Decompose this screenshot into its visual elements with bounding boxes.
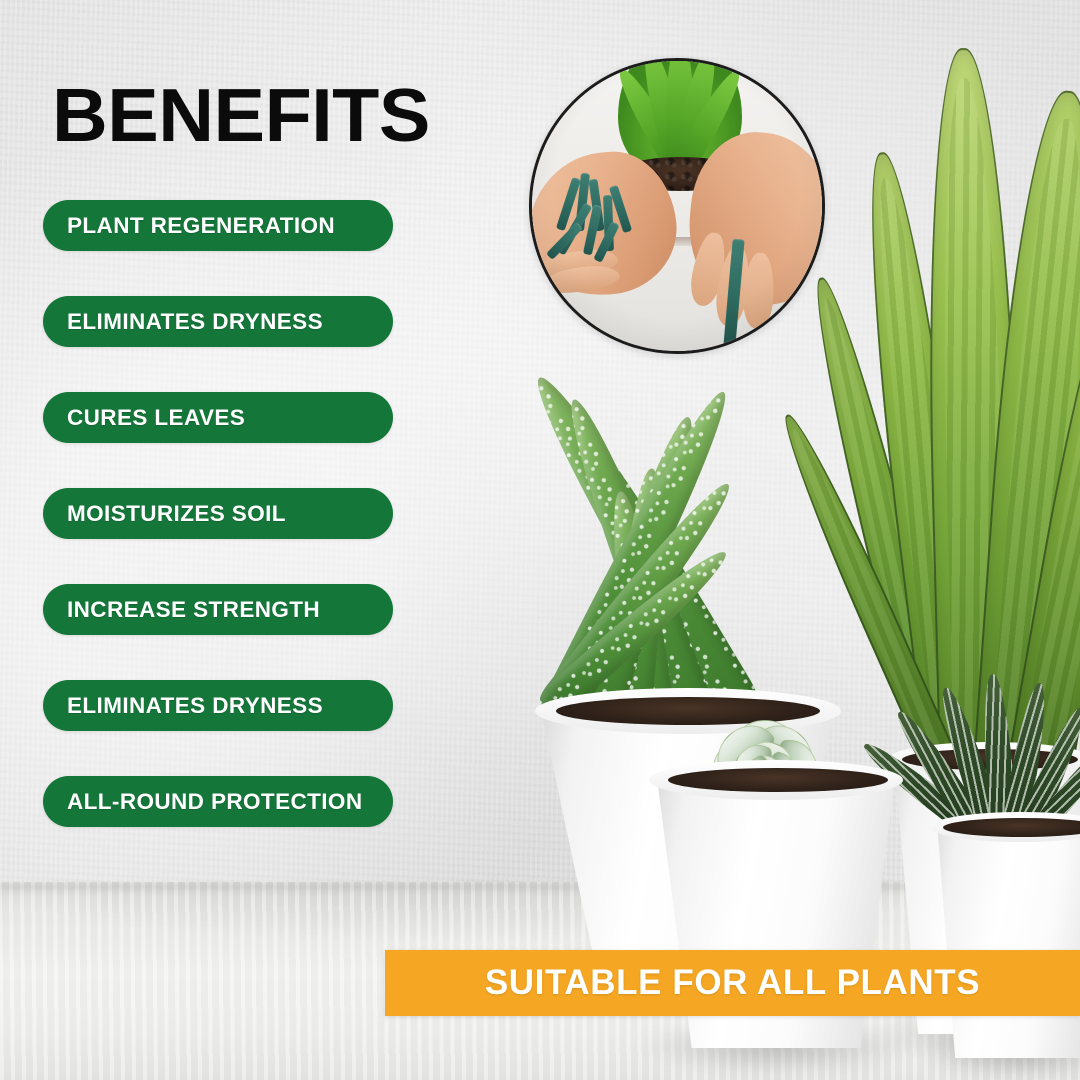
benefit-label: ELIMINATES DRYNESS	[43, 309, 323, 335]
page-title: BENEFITS	[52, 78, 430, 153]
benefits-panel: BENEFITS PLANT REGENERATION ELIMINATES D…	[0, 0, 430, 1080]
benefit-pill-moisturizes-soil[interactable]: MOISTURIZES SOIL	[43, 488, 393, 539]
benefit-pill-cures-leaves[interactable]: CURES LEAVES	[43, 392, 393, 443]
benefit-label: CURES LEAVES	[43, 405, 245, 431]
product-infographic: BENEFITS PLANT REGENERATION ELIMINATES D…	[0, 0, 1080, 1080]
benefit-pill-eliminates-dryness-1[interactable]: ELIMINATES DRYNESS	[43, 296, 393, 347]
benefit-pill-increase-strength[interactable]: INCREASE STRENGTH	[43, 584, 393, 635]
benefit-label: MOISTURIZES SOIL	[43, 501, 286, 527]
inset-vignette	[532, 61, 822, 351]
benefit-pill-all-round-protection[interactable]: ALL-ROUND PROTECTION	[43, 776, 393, 827]
benefit-list: PLANT REGENERATION ELIMINATES DRYNESS CU…	[43, 200, 395, 872]
haworthia-pot	[932, 812, 1080, 1064]
suitable-for-all-plants-banner: SUITABLE FOR ALL PLANTS	[385, 950, 1080, 1016]
banner-label: SUITABLE FOR ALL PLANTS	[485, 963, 980, 1003]
benefit-label: INCREASE STRENGTH	[43, 597, 320, 623]
aloe-vera-photo	[430, 320, 850, 740]
benefit-label: ELIMINATES DRYNESS	[43, 693, 323, 719]
product-usage-photo-circle	[529, 58, 825, 354]
benefit-pill-plant-regeneration[interactable]: PLANT REGENERATION	[43, 200, 393, 251]
benefit-label: PLANT REGENERATION	[43, 213, 335, 239]
benefit-label: ALL-ROUND PROTECTION	[43, 789, 362, 815]
benefit-pill-eliminates-dryness-2[interactable]: ELIMINATES DRYNESS	[43, 680, 393, 731]
